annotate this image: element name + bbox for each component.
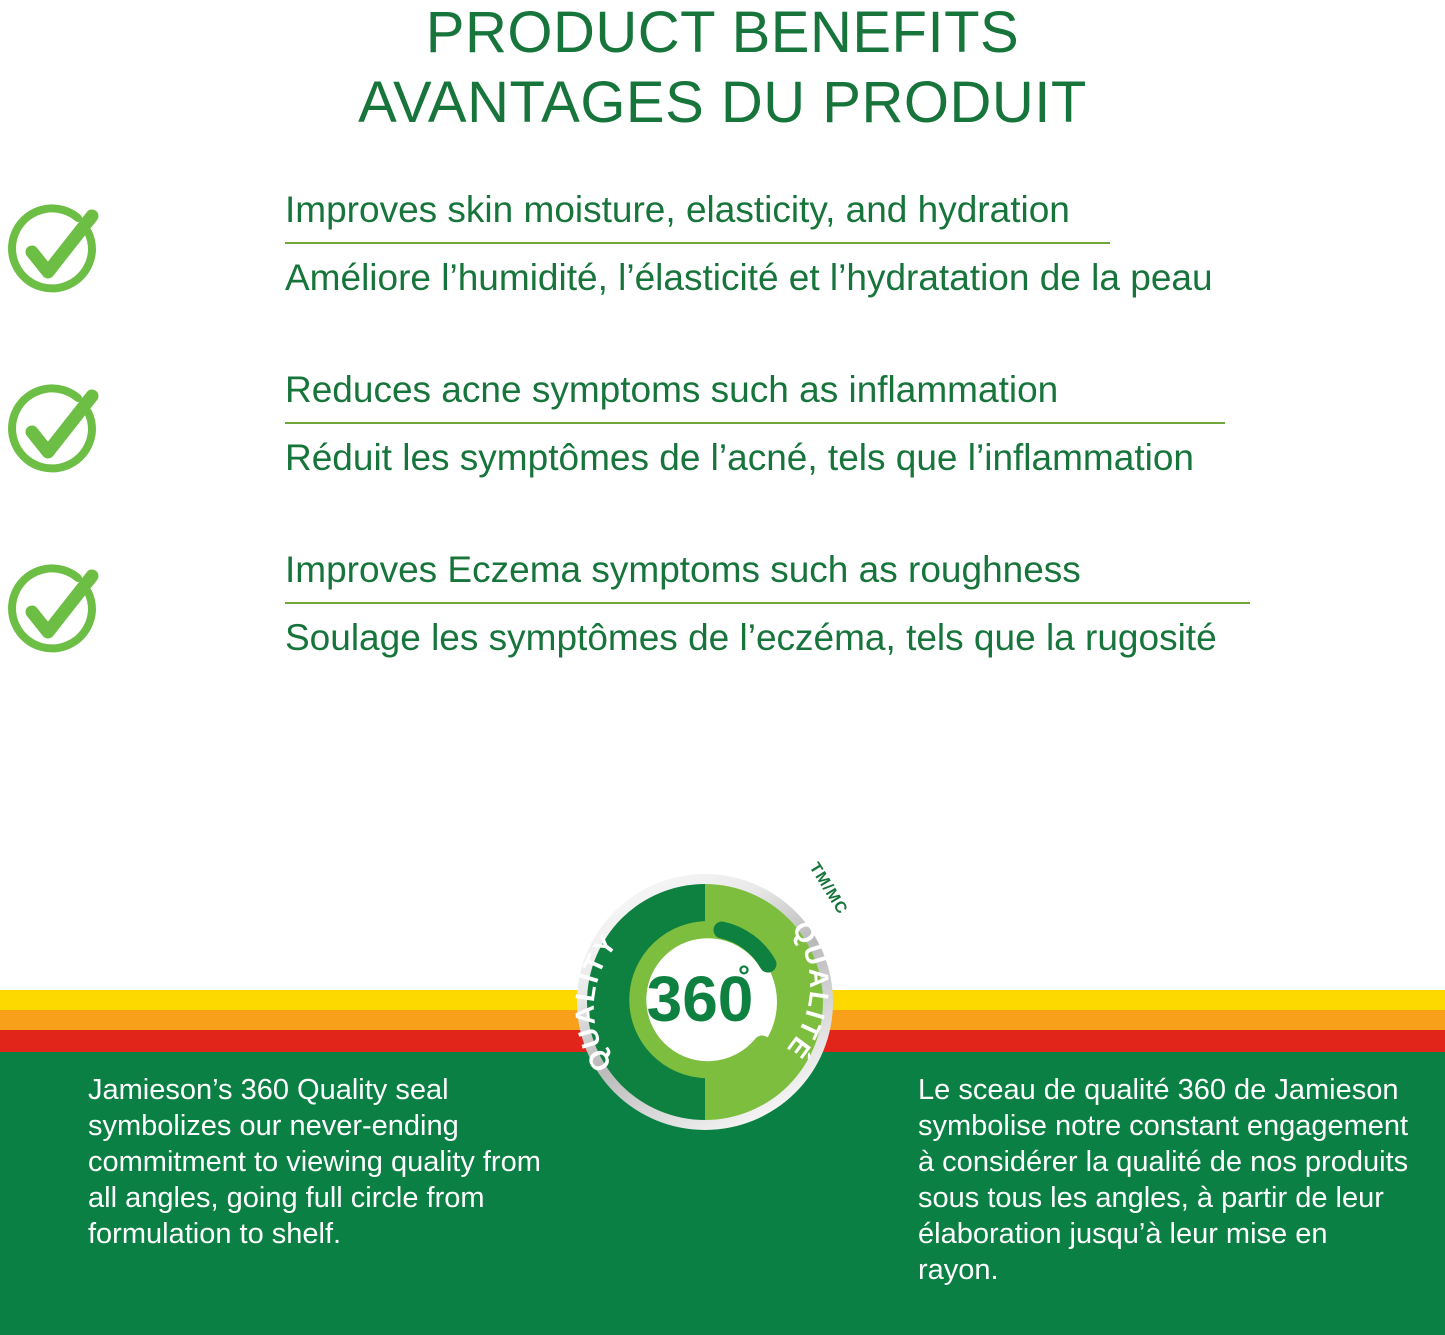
benefit-item: Improves skin moisture, elasticity, and … [0,188,1445,368]
footer-text-french: Le sceau de qualité 360 de Jamieson symb… [918,1072,1413,1288]
page-title: PRODUCT BENEFITS AVANTAGES DU PRODUIT [0,0,1445,136]
check-circle-icon [0,376,108,484]
benefit-divider [285,602,1250,604]
benefit-text-english: Improves Eczema symptoms such as roughne… [285,548,1445,592]
title-english: PRODUCT BENEFITS [0,0,1445,66]
benefits-list: Improves skin moisture, elasticity, and … [0,188,1445,728]
seal-degree-symbol: ° [738,960,750,993]
benefit-item: Improves Eczema symptoms such as roughne… [0,548,1445,728]
benefit-text-french: Soulage les symptômes de l’eczéma, tels … [285,616,1445,660]
benefit-text-english: Reduces acne symptoms such as inflammati… [285,368,1445,412]
benefit-text-english: Improves skin moisture, elasticity, and … [285,188,1445,232]
quality-360-seal: QUALITY QUALITÉ 360 ° TM/MC [572,868,862,1153]
check-circle-icon [0,556,108,664]
benefit-text-group: Improves skin moisture, elasticity, and … [285,188,1445,300]
check-circle-icon [0,196,108,304]
footer-text-english: Jamieson’s 360 Quality seal symbolizes o… [88,1072,558,1252]
benefit-text-french: Améliore l’humidité, l’élasticité et l’h… [285,256,1445,300]
benefit-text-group: Improves Eczema symptoms such as roughne… [285,548,1445,660]
title-french: AVANTAGES DU PRODUIT [0,66,1445,136]
benefit-text-group: Reduces acne symptoms such as inflammati… [285,368,1445,480]
benefit-text-french: Réduit les symptômes de l’acné, tels que… [285,436,1445,480]
benefit-divider [285,422,1225,424]
benefit-item: Reduces acne symptoms such as inflammati… [0,368,1445,548]
benefit-divider [285,242,1110,244]
